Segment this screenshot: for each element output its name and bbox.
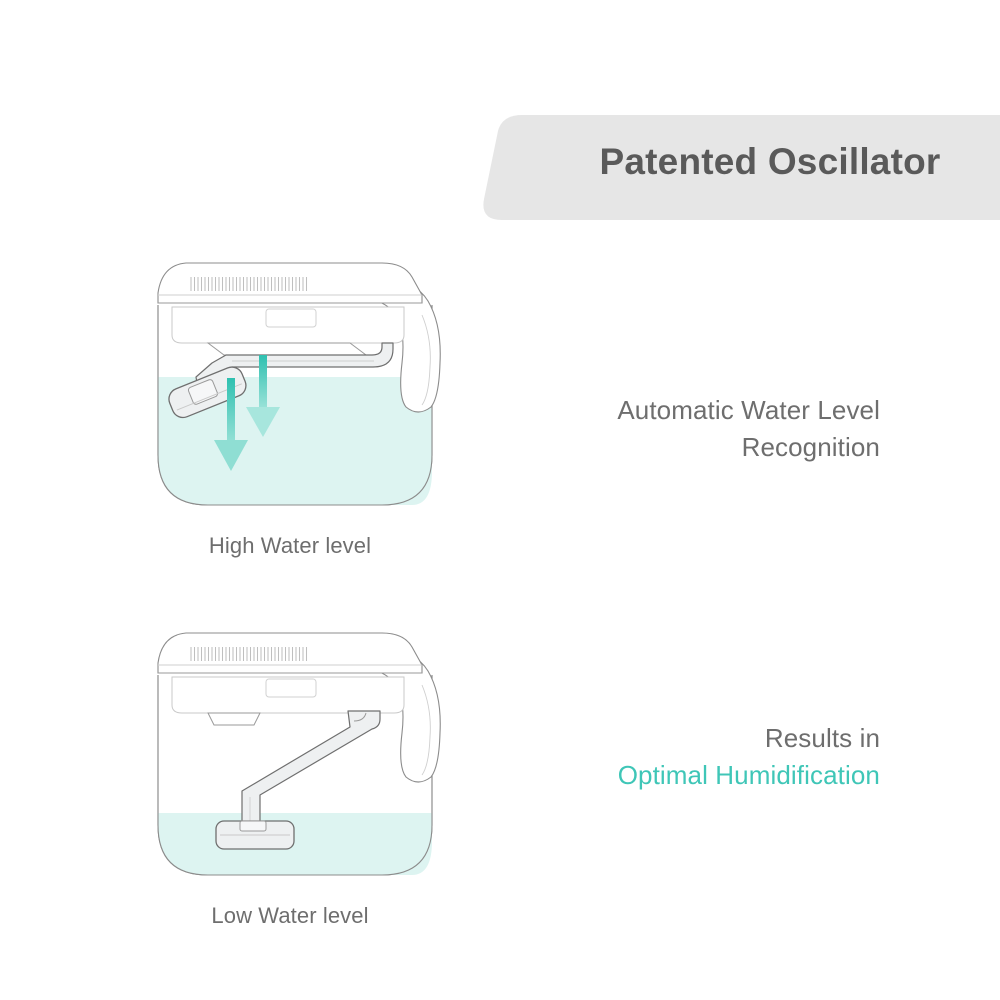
arm-mount-bracket bbox=[208, 343, 366, 355]
caption-low-water: Low Water level bbox=[110, 903, 470, 929]
annotation-automatic-water-level: Automatic Water Level Recognition bbox=[460, 392, 880, 466]
caption-high-water: High Water level bbox=[110, 533, 470, 559]
float-sensor-head bbox=[216, 821, 294, 849]
figure-high-water bbox=[150, 255, 510, 525]
page-title: Patented Oscillator bbox=[560, 140, 980, 184]
lid-latch-tab bbox=[266, 679, 316, 697]
water-surface bbox=[156, 813, 436, 879]
annotation-top-line-2: Recognition bbox=[460, 429, 880, 466]
figure-low-water bbox=[150, 625, 510, 895]
annotation-optimal-humidification: Results in Optimal Humidification bbox=[460, 720, 880, 794]
lid-latch-tab bbox=[266, 309, 316, 327]
annotation-bottom-line-2-accent: Optimal Humidification bbox=[460, 757, 880, 794]
lid-vent-slots bbox=[190, 277, 310, 291]
annotation-bottom-line-1: Results in bbox=[460, 720, 880, 757]
annotation-top-line-1: Automatic Water Level bbox=[460, 392, 880, 429]
arm-mount-bracket bbox=[208, 713, 260, 725]
